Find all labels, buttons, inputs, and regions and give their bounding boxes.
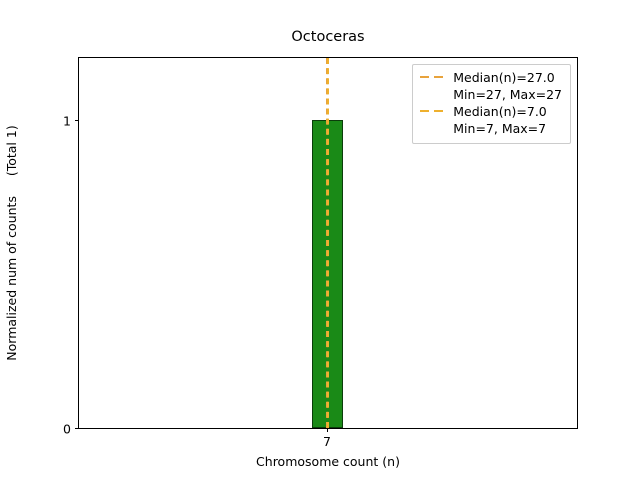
chart-figure: Octoceras Normalized num of counts (Tota… bbox=[0, 0, 640, 480]
legend-entry-0-texts: Median(n)=27.0 bbox=[453, 70, 554, 87]
y-tick-label-0: 0 bbox=[63, 421, 71, 436]
legend-sublabel-row-0: Min=27, Max=27 bbox=[419, 87, 562, 104]
y-axis-label: Normalized num of counts (Total 1) bbox=[6, 125, 19, 360]
legend-label-0: Median(n)=27.0 bbox=[453, 70, 554, 87]
legend-sublabel-row-1: Min=7, Max=7 bbox=[419, 121, 562, 138]
dashed-line-icon bbox=[419, 70, 447, 84]
y-axis-label-container: Normalized num of counts (Total 1) bbox=[0, 57, 24, 429]
legend-sublabel-1: Min=7, Max=7 bbox=[453, 121, 546, 138]
page-title: Octoceras bbox=[78, 30, 578, 45]
legend-sublabel-0: Min=27, Max=27 bbox=[453, 87, 562, 104]
legend-entry-1: Median(n)=7.0 bbox=[419, 104, 562, 121]
x-axis-label: Chromosome count (n) bbox=[78, 454, 578, 469]
legend-entry-0: Median(n)=27.0 bbox=[419, 70, 562, 87]
y-tick-0: 0 bbox=[75, 428, 79, 429]
legend-label-1: Median(n)=7.0 bbox=[453, 104, 547, 121]
x-tick-label-7: 7 bbox=[323, 434, 331, 449]
y-tick-1: 1 bbox=[75, 120, 79, 121]
dashed-line-icon bbox=[419, 104, 447, 118]
median-line-7 bbox=[327, 58, 329, 428]
legend-entry-1-texts: Median(n)=7.0 bbox=[453, 104, 547, 121]
x-tick-7 bbox=[327, 428, 328, 432]
y-tick-label-1: 1 bbox=[63, 113, 71, 128]
legend: Median(n)=27.0 Min=27, Max=27 Median(n)=… bbox=[412, 64, 571, 144]
plot-area: 0 1 7 Median(n)=27.0 Min=27, Max=27 bbox=[78, 57, 578, 429]
